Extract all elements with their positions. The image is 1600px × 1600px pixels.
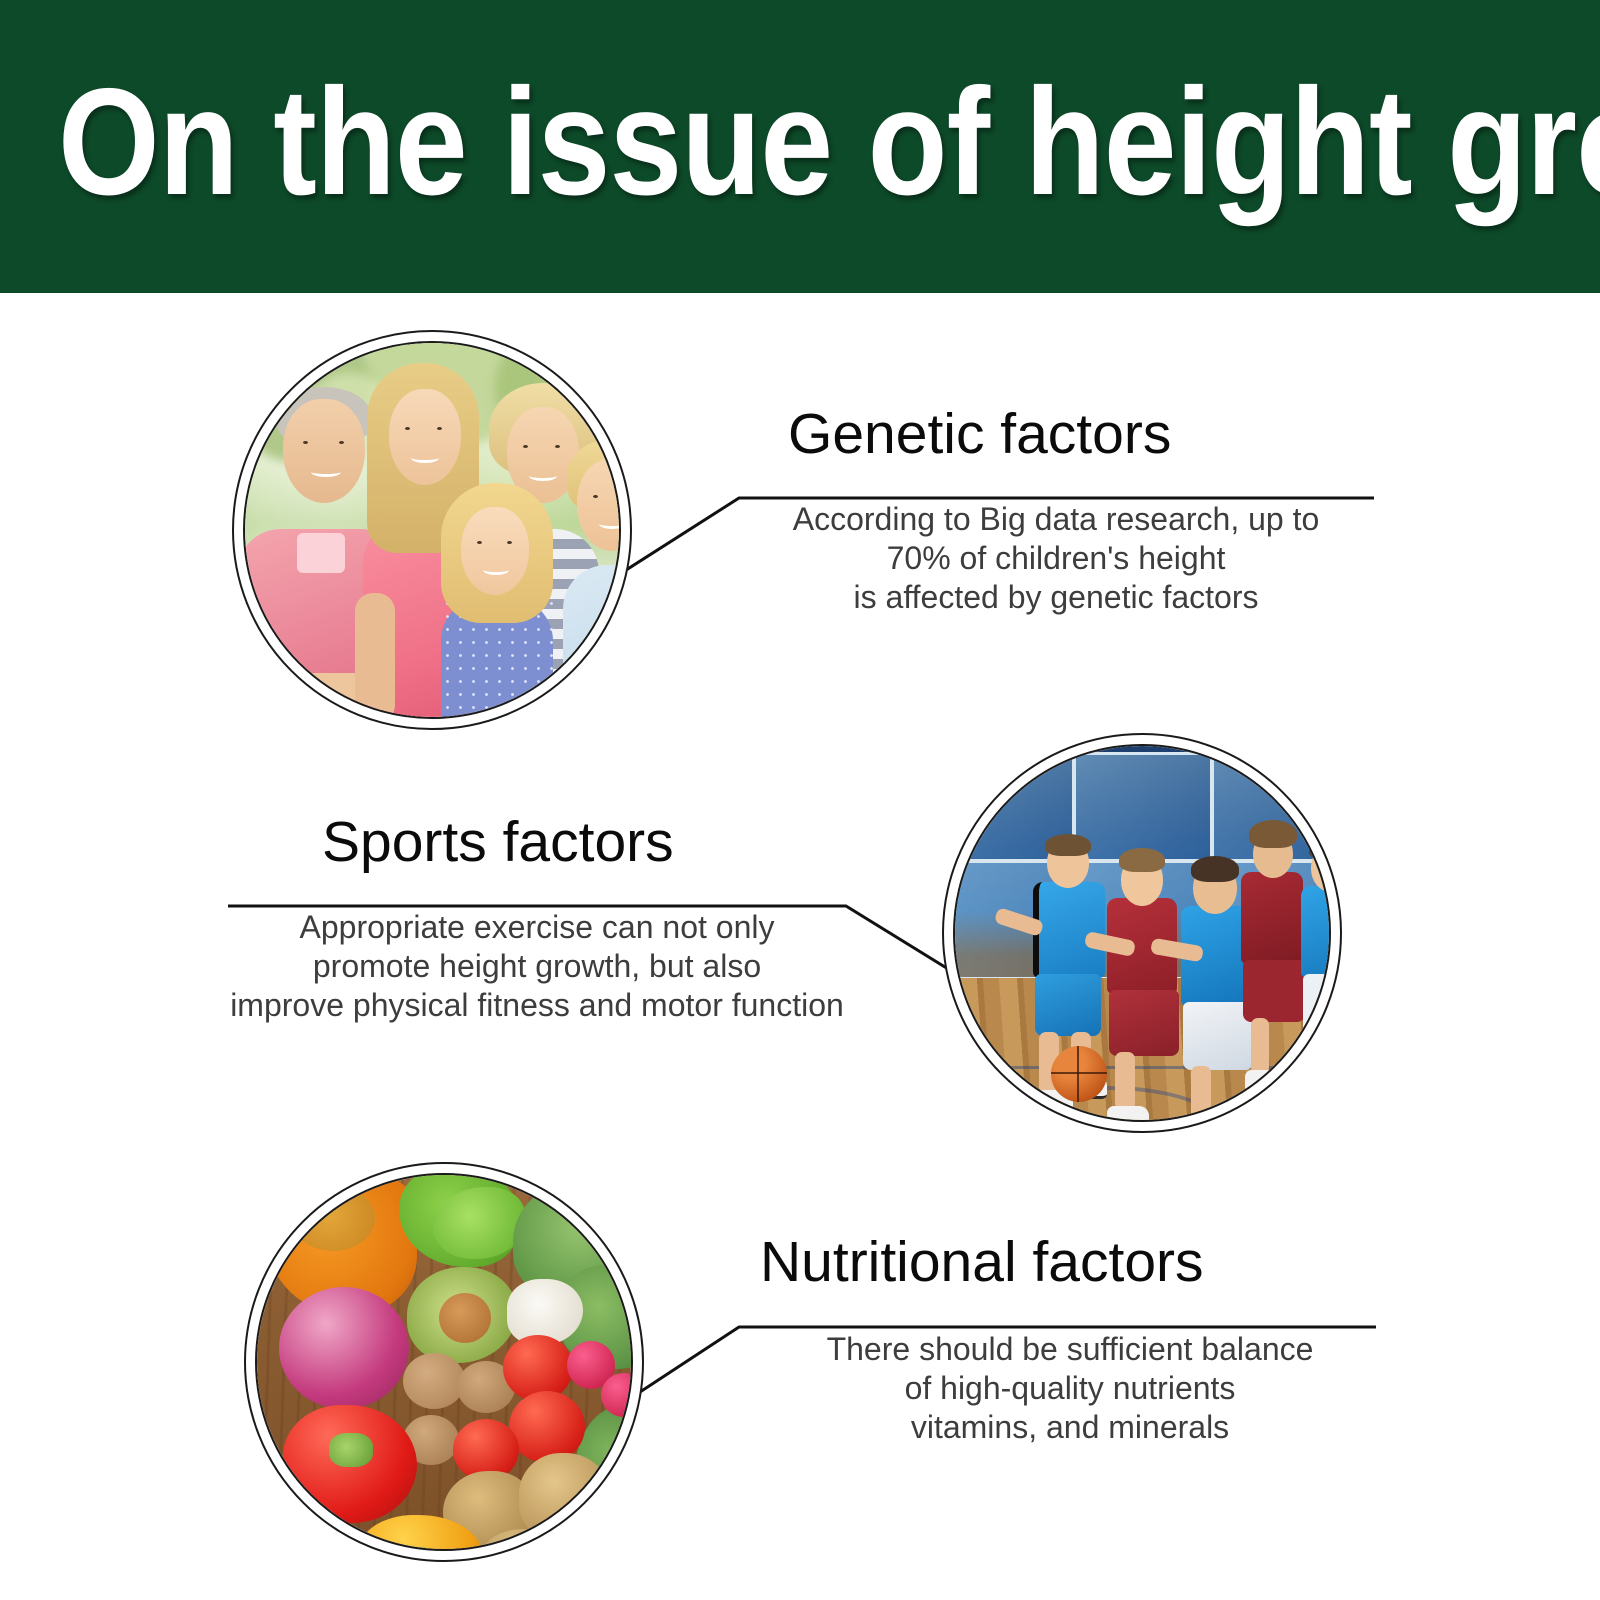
image-circle-nutritional <box>244 1162 644 1562</box>
player-leg <box>1307 1030 1325 1086</box>
red-shorts <box>1109 990 1179 1056</box>
red-jersey <box>1241 872 1303 964</box>
fresh-vegetables-photo <box>257 1175 631 1549</box>
callout-body-nutritional: There should be sufficient balance of hi… <box>760 1330 1380 1447</box>
kids-basketball-photo <box>955 746 1329 1120</box>
blue-shorts <box>1035 974 1101 1036</box>
image-circle-inner-ring <box>953 744 1331 1122</box>
player-shoe <box>1299 1082 1329 1105</box>
pepper-stem <box>329 1433 373 1467</box>
white-shorts <box>1303 974 1329 1034</box>
court-line <box>975 1066 1329 1069</box>
player-hair <box>1045 834 1091 856</box>
pumpkin-seeds <box>291 1185 375 1251</box>
blue-jersey <box>1033 882 1105 978</box>
mushroom <box>403 1353 465 1409</box>
tomato <box>509 1391 585 1463</box>
callout-body-sports: Appropriate exercise can not only promot… <box>200 908 874 1025</box>
red-shorts <box>1243 960 1305 1022</box>
callout-title-sports: Sports factors <box>322 812 674 872</box>
player-leg <box>1251 1018 1269 1074</box>
image-circle-genetic <box>232 330 632 730</box>
image-circle-inner-ring <box>243 341 621 719</box>
infographic-poster: On the issue of height growth <box>0 0 1600 1600</box>
image-circle-sports <box>942 733 1342 1133</box>
avocado-pit <box>439 1293 491 1343</box>
image-circle-inner-ring <box>255 1173 633 1551</box>
callout-body-genetic: According to Big data research, up to 70… <box>738 500 1374 617</box>
grandfather-face <box>283 399 365 503</box>
grandfather-leg <box>249 673 369 717</box>
callout-title-genetic: Genetic factors <box>788 404 1171 464</box>
page-title: On the issue of height growth <box>58 62 1348 222</box>
girl-face <box>461 507 529 595</box>
player-shoe <box>1107 1106 1149 1120</box>
boy-shirt <box>563 565 619 717</box>
family-portrait-photo <box>245 343 619 717</box>
player-shoe <box>1245 1070 1285 1093</box>
player-hair <box>1191 856 1239 882</box>
player-hair <box>1119 848 1165 872</box>
blue-jersey <box>1301 886 1329 978</box>
player-shoe <box>1181 1116 1225 1120</box>
player-leg <box>1115 1052 1135 1110</box>
window-pane <box>1073 752 1213 862</box>
girl-leg <box>445 715 555 717</box>
mother-face <box>389 389 461 485</box>
mother-arm <box>355 593 395 717</box>
shirt-collar <box>297 533 345 573</box>
callout-title-nutritional: Nutritional factors <box>760 1232 1204 1292</box>
player-hair <box>1249 820 1297 848</box>
basketball-icon <box>1051 1046 1107 1102</box>
header-banner: On the issue of height growth <box>0 0 1600 293</box>
red-onion <box>279 1287 409 1409</box>
player-leg <box>1191 1066 1211 1120</box>
